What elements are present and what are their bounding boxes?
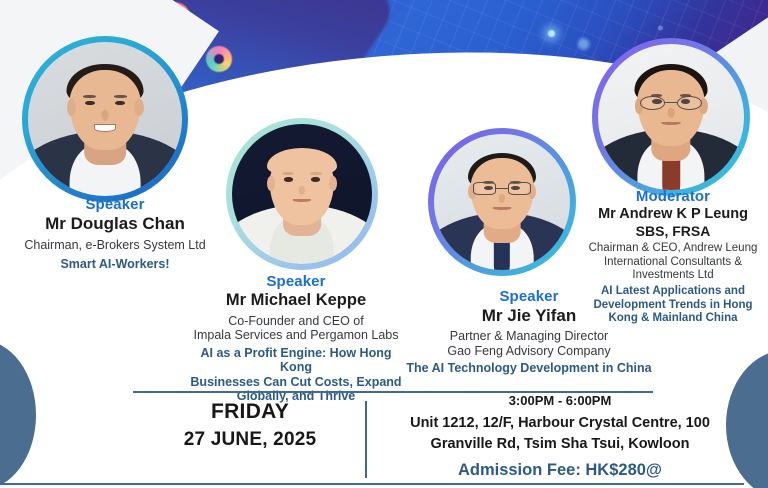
portrait-1-photo xyxy=(28,42,182,196)
portrait-speaker-1 xyxy=(22,36,188,202)
event-date-block: FRIDAY 27 JUNE, 2025 xyxy=(150,398,350,453)
speaker-1-affiliation-line-1: Chairman, e-Brokers System Ltd xyxy=(0,238,230,253)
moderator-topic-line-1: AI Latest Applications and xyxy=(578,285,768,298)
speaker-2-topic-line-2: Businesses Can Cut Costs, Expand xyxy=(183,375,409,390)
moderator-affiliation-line-2: International Consultants & xyxy=(578,256,768,269)
speaker-info-2: Speaker Mr Michael Keppe Co-Founder and … xyxy=(183,273,409,404)
event-time: 3:00PM - 6:00PM xyxy=(380,392,740,410)
moderator-affiliation-line-1: Chairman & CEO, Andrew Leung xyxy=(578,242,768,255)
speaker-2-affiliation-line-2: Impala Services and Pergamon Labs xyxy=(183,328,409,343)
moderator-topic-line-2: Development Trends in Hong xyxy=(578,299,768,312)
banner-light-flare xyxy=(548,30,555,37)
moderator-role: Moderator xyxy=(578,188,768,205)
event-address-line-1: Unit 1212, 12/F, Harbour Crystal Centre,… xyxy=(380,413,740,434)
speaker-1-topic-line-1: Smart AI-Workers! xyxy=(0,257,230,272)
speaker-2-role: Speaker xyxy=(183,273,409,290)
event-venue-block: 3:00PM - 6:00PM Unit 1212, 12/F, Harbour… xyxy=(380,392,740,482)
app-icon-ring-2-hole xyxy=(214,54,224,64)
speaker-1-name: Mr Douglas Chan xyxy=(0,214,230,234)
portrait-speaker-3 xyxy=(428,128,576,276)
speaker-3-affiliation-line-1: Partner & Managing Director xyxy=(393,329,665,344)
event-poster: Speaker Mr Douglas Chan Chairman, e-Brok… xyxy=(0,0,768,488)
event-date: 27 JUNE, 2025 xyxy=(150,428,350,453)
event-day: FRIDAY xyxy=(150,398,350,425)
portrait-2-photo xyxy=(232,124,372,264)
speaker-1-role: Speaker xyxy=(0,196,230,213)
speaker-2-affiliation-line-1: Co-Founder and CEO of xyxy=(183,314,409,329)
portrait-moderator xyxy=(592,38,750,196)
portrait-3-photo xyxy=(434,134,570,270)
moderator-affiliation-line-3: Investments Ltd xyxy=(578,269,768,282)
portrait-speaker-2 xyxy=(226,118,378,270)
speaker-2-name: Mr Michael Keppe xyxy=(183,291,409,310)
divider-middle xyxy=(365,401,367,478)
moderator-name: Mr Andrew K P Leung xyxy=(578,206,768,223)
admission-fee: Admission Fee: HK$280@ xyxy=(380,459,740,482)
event-address-line-2: Granville Rd, Tsim Sha Tsui, Kowloon xyxy=(380,434,740,455)
moderator-topic-line-3: Kong & Mainland China xyxy=(578,312,768,325)
speaker-info-1: Speaker Mr Douglas Chan Chairman, e-Brok… xyxy=(0,196,230,271)
speaker-3-affiliation-line-2: Gao Feng Advisory Company xyxy=(393,344,665,359)
divider-bottom xyxy=(0,483,744,485)
moderator-credentials: SBS, FRSA xyxy=(578,223,768,239)
portrait-4-photo xyxy=(598,44,744,190)
speaker-3-topic-line-1: The AI Technology Development in China xyxy=(393,361,665,376)
decorative-shape-left xyxy=(0,340,36,488)
speaker-2-topic-line-1: AI as a Profit Engine: How Hong Kong xyxy=(183,346,409,375)
moderator-info: Moderator Mr Andrew K P Leung SBS, FRSA … xyxy=(578,188,768,325)
